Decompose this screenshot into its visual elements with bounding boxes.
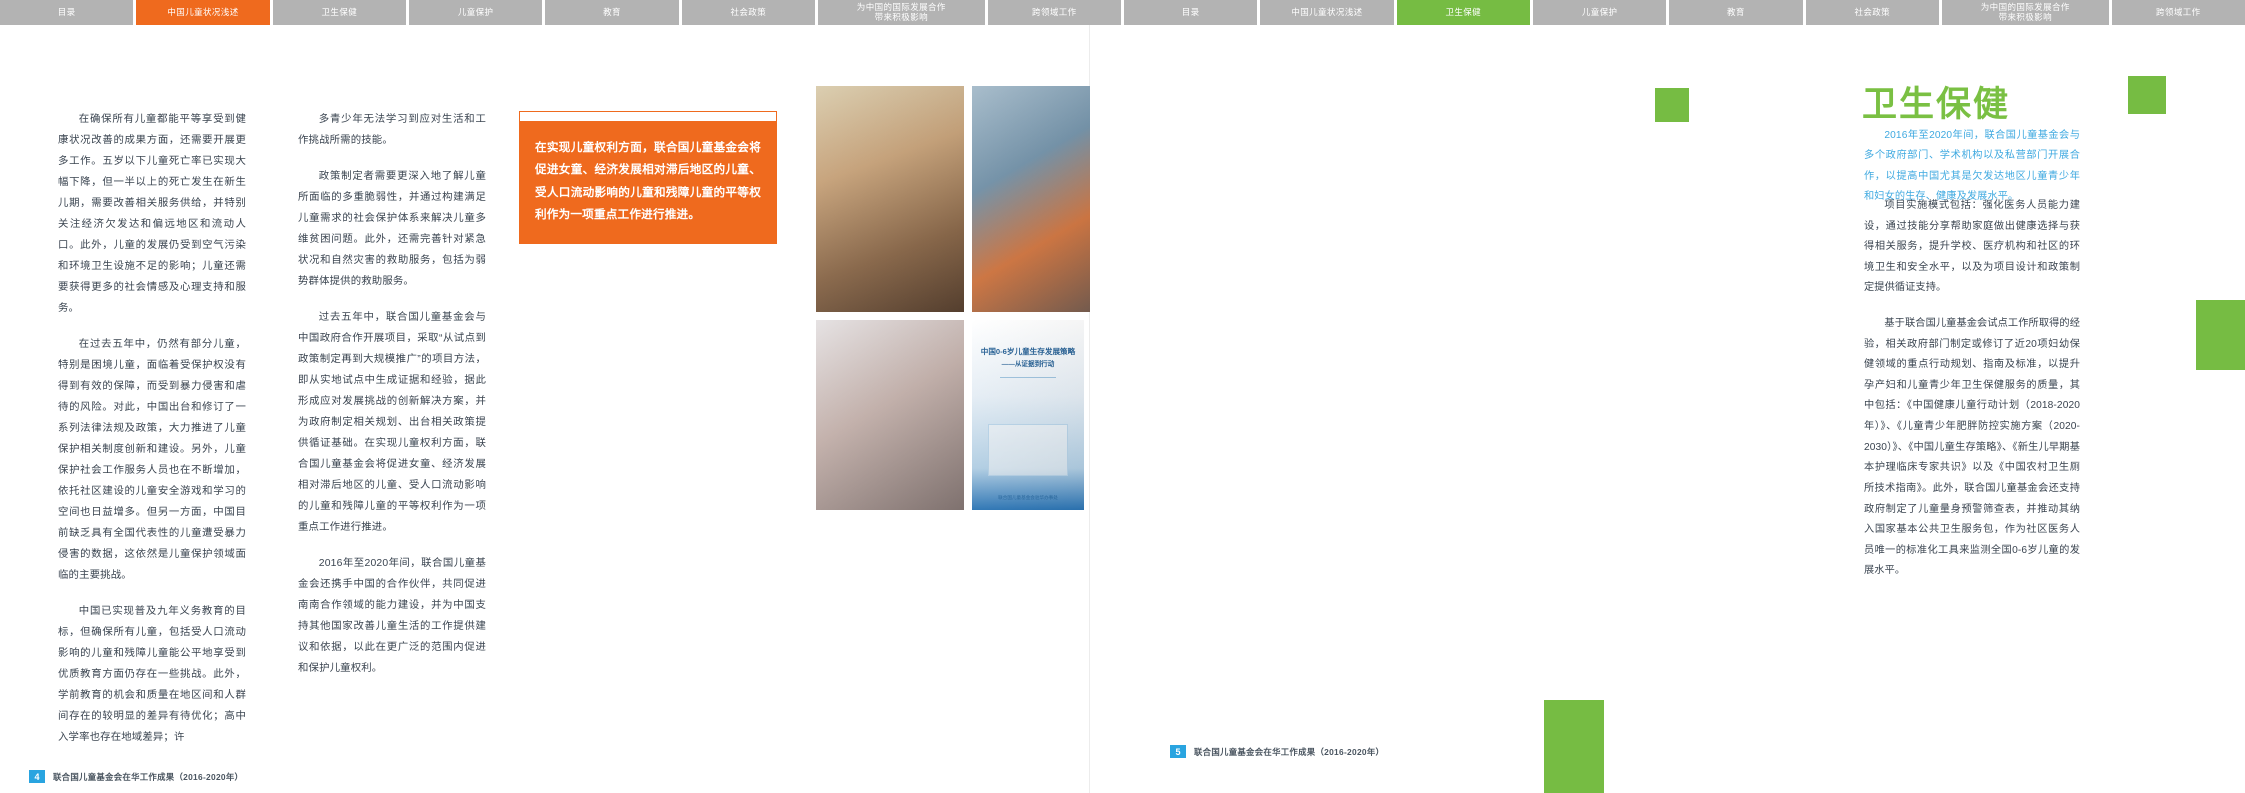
paragraph: 中国已实现普及九年义务教育的目标，但确保所有儿童，包括受人口流动影响的儿童和残障…	[58, 601, 246, 748]
tab-china-children-2[interactable]: 中国儿童状况浅述	[1260, 0, 1393, 25]
tab-child-protection-1[interactable]: 儿童保护	[409, 0, 542, 25]
paragraph: 多青少年无法学习到应对生活和工作挑战所需的技能。	[298, 109, 486, 151]
tab-child-protection-2[interactable]: 儿童保护	[1533, 0, 1666, 25]
tab-intl-cooperation-2[interactable]: 为中国的国际发展合作 带来积极影响	[1942, 0, 2109, 25]
tab-cross-sector-2[interactable]: 跨领域工作	[2112, 0, 2245, 25]
tab-contents-1[interactable]: 目录	[0, 0, 133, 25]
paragraph: 2016年至2020年间，联合国儿童基金会还携手中国的合作伙伴，共同促进南南合作…	[298, 553, 486, 679]
pull-quote-block: 在实现儿童权利方面，联合国儿童基金会将促进女童、经济发展相对滞后地区的儿童、受人…	[519, 111, 777, 244]
poster-panel	[988, 424, 1069, 476]
tab-social-policy-1[interactable]: 社会政策	[682, 0, 815, 25]
footer-left: 4 联合国儿童基金会在华工作成果（2016-2020年）	[29, 770, 243, 783]
body-column-1: 在确保所有儿童都能平等享受到健康状况改善的成果方面，还需要开展更多工作。五岁以下…	[58, 109, 246, 763]
section-body: 项目实施模式包括：强化医务人员能力建设，通过技能分享帮助家庭做出健康选择与获得相…	[1864, 196, 2080, 597]
footer-title: 联合国儿童基金会在华工作成果（2016-2020年）	[53, 771, 243, 783]
tab-intl-cooperation-1[interactable]: 为中国的国际发展合作 带来积极影响	[818, 0, 985, 25]
page-number: 4	[29, 770, 45, 783]
tab-china-children-1[interactable]: 中国儿童状况浅述	[136, 0, 269, 25]
paragraph: 在确保所有儿童都能平等享受到健康状况改善的成果方面，还需要开展更多工作。五岁以下…	[58, 109, 246, 319]
paragraph: 在过去五年中，仍然有部分儿童，特别是困境儿童，面临着受保护权没有得到有效的保障，…	[58, 334, 246, 586]
tab-health-care-1[interactable]: 卫生保健	[273, 0, 406, 25]
tab-contents-2[interactable]: 目录	[1124, 0, 1257, 25]
photo-poster-survival-development: 中国0-6岁儿童生存发展策略 ——从证据到行动 联合国儿童基金会驻华办事处	[972, 320, 1084, 510]
paragraph: 项目实施模式包括：强化医务人员能力建设，通过技能分享帮助家庭做出健康选择与获得相…	[1864, 196, 2080, 299]
section-title: 卫生保健	[1862, 76, 2010, 127]
section-tab-bar: 目录 中国儿童状况浅述 卫生保健 儿童保护 教育 社会政策 为中国的国际发展合作…	[0, 0, 2245, 25]
photo-mother-and-child	[816, 86, 964, 312]
tab-education-2[interactable]: 教育	[1669, 0, 1802, 25]
paragraph: 过去五年中，联合国儿童基金会与中国政府合作开展项目，采取“从试点到政策制定再到大…	[298, 307, 486, 538]
poster-title: 中国0-6岁儿童生存发展策略	[980, 346, 1076, 357]
tab-health-care-2[interactable]: 卫生保健	[1397, 0, 1530, 25]
tab-education-1[interactable]: 教育	[545, 0, 678, 25]
footer-title: 联合国儿童基金会在华工作成果（2016-2020年）	[1194, 746, 1384, 758]
paragraph: 基于联合国儿童基金会试点工作所取得的经验，相关政府部门制定或修订了近20项妇幼保…	[1864, 314, 2080, 582]
poster-footer: 联合国儿童基金会驻华办事处	[972, 495, 1084, 501]
footer-right: 5 联合国儿童基金会在华工作成果（2016-2020年）	[1170, 745, 1384, 758]
tab-social-policy-2[interactable]: 社会政策	[1806, 0, 1939, 25]
green-accent-bar-edge	[2196, 300, 2245, 370]
green-accent-square	[1655, 88, 1689, 122]
poster-divider	[1000, 377, 1056, 378]
tab-cross-sector-1[interactable]: 跨领域工作	[988, 0, 1121, 25]
photo-newborn-infant	[816, 320, 964, 510]
page-number: 5	[1170, 745, 1186, 758]
poster-content: 中国0-6岁儿童生存发展策略 ——从证据到行动 联合国儿童基金会驻华办事处	[972, 320, 1084, 510]
poster-subtitle: ——从证据到行动	[980, 360, 1076, 370]
green-accent-bar-top	[2128, 76, 2166, 114]
paragraph: 政策制定者需要更深入地了解儿童所面临的多重脆弱性，并通过构建满足儿童需求的社会保…	[298, 166, 486, 292]
pull-quote-text: 在实现儿童权利方面，联合国儿童基金会将促进女童、经济发展相对滞后地区的儿童、受人…	[519, 121, 777, 244]
body-column-2: 多青少年无法学习到应对生活和工作挑战所需的技能。 政策制定者需要更深入地了解儿童…	[298, 109, 486, 694]
green-accent-bar-bottom	[1544, 700, 1604, 793]
report-spread: 目录 中国儿童状况浅述 卫生保健 儿童保护 教育 社会政策 为中国的国际发展合作…	[0, 0, 2245, 793]
